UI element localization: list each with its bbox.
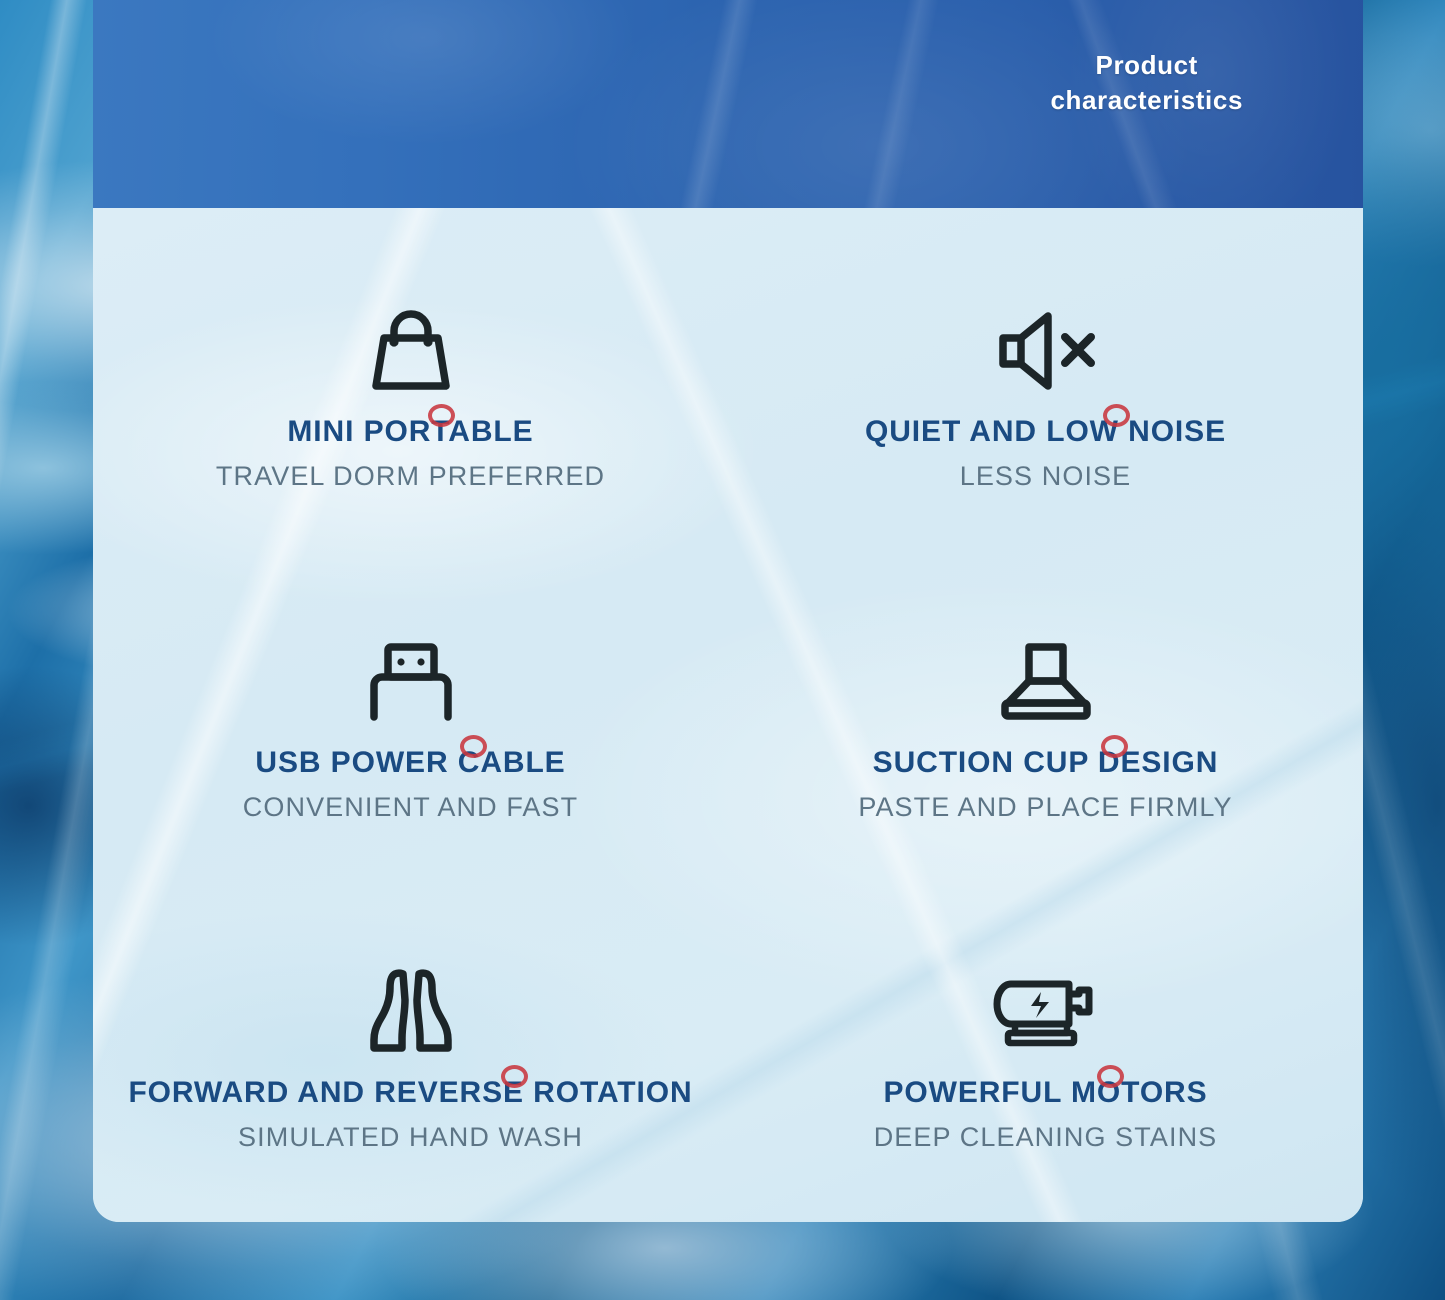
feature-grid: MINI PORTABLE TRAVEL DORM PREFERRED [93, 208, 1363, 1222]
card-body: MINI PORTABLE TRAVEL DORM PREFERRED [93, 208, 1363, 1222]
feature-subtitle: CONVENIENT AND FAST [243, 793, 578, 823]
page-title-line-2: characteristics [1050, 83, 1243, 118]
feature-title: USB POWER CABLE [255, 746, 565, 779]
feature-item-suction-cup-design: SUCTION CUP DESIGN PASTE AND PLACE FIRML… [728, 561, 1363, 892]
two-hands-icon [359, 960, 463, 1064]
handbag-icon [363, 299, 459, 403]
card-header: Product characteristics [93, 0, 1363, 208]
red-ring-marker [1101, 735, 1128, 758]
feature-title: QUIET AND LOW NOISE [865, 415, 1226, 448]
feature-subtitle: DEEP CLEANING STAINS [874, 1123, 1218, 1153]
feature-subtitle: TRAVEL DORM PREFERRED [216, 462, 605, 492]
feature-item-powerful-motors: POWERFUL MOTORS DEEP CLEANING STAINS [728, 891, 1363, 1222]
feature-title-row: SUCTION CUP DESIGN [873, 746, 1219, 779]
page-title-line-1: Product [1050, 48, 1243, 83]
red-ring-marker [428, 404, 455, 427]
electric-motor-icon [991, 960, 1101, 1064]
suction-cup-icon [996, 630, 1096, 734]
red-ring-marker [460, 735, 487, 758]
product-feature-card: Product characteristics [93, 0, 1363, 1222]
page-title: Product characteristics [1050, 48, 1243, 117]
feature-title-row: POWERFUL MOTORS [883, 1076, 1207, 1109]
feature-title: MINI PORTABLE [287, 415, 533, 448]
feature-title: FORWARD AND REVERSE ROTATION [128, 1076, 692, 1109]
feature-subtitle: LESS NOISE [960, 462, 1132, 492]
feature-item-usb-power-cable: USB POWER CABLE CONVENIENT AND FAST [93, 561, 728, 892]
feature-title-row: FORWARD AND REVERSE ROTATION [128, 1076, 692, 1109]
feature-title: POWERFUL MOTORS [883, 1076, 1207, 1109]
feature-subtitle: PASTE AND PLACE FIRMLY [858, 793, 1232, 823]
feature-item-quiet-low-noise: QUIET AND LOW NOISE LESS NOISE [728, 230, 1363, 561]
usb-plug-icon [361, 630, 461, 734]
red-ring-marker [501, 1065, 528, 1088]
feature-subtitle: SIMULATED HAND WASH [238, 1123, 583, 1153]
speaker-mute-icon [991, 299, 1101, 403]
feature-title-row: QUIET AND LOW NOISE [865, 415, 1226, 448]
feature-title: SUCTION CUP DESIGN [873, 746, 1219, 779]
feature-item-mini-portable: MINI PORTABLE TRAVEL DORM PREFERRED [93, 230, 728, 561]
product-characteristics-screen: Product characteristics [0, 0, 1445, 1300]
feature-title-row: MINI PORTABLE [287, 415, 533, 448]
feature-title-row: USB POWER CABLE [255, 746, 565, 779]
feature-item-forward-reverse-rotation: FORWARD AND REVERSE ROTATION SIMULATED H… [93, 891, 728, 1222]
